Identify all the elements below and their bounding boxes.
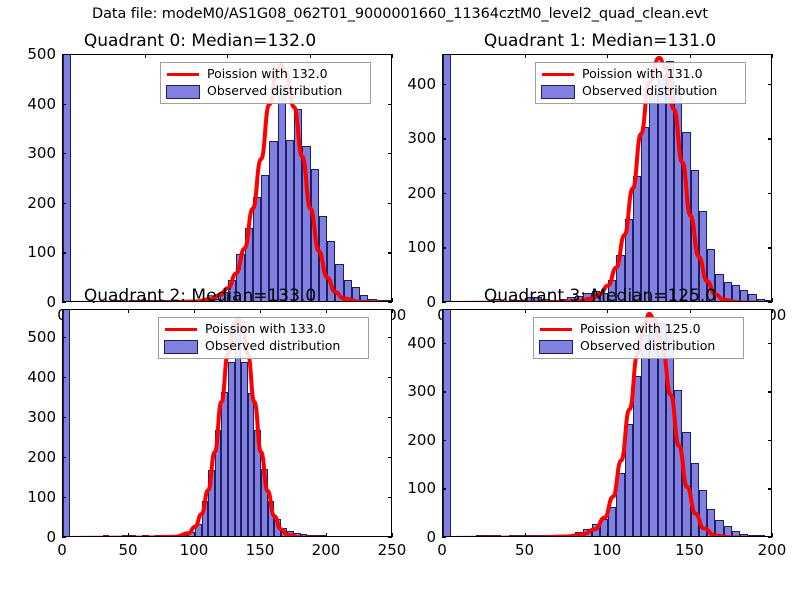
y-axis-tick bbox=[62, 457, 66, 458]
subplot-title-quadrant-2: Quadrant 2: Median=133.0 bbox=[0, 286, 400, 306]
legend-quadrant-1: Poission with 131.0 Observed distributio… bbox=[535, 62, 746, 104]
legend-quadrant-3: Poission with 125.0 Observed distributio… bbox=[533, 317, 744, 359]
y-axis-tick bbox=[442, 343, 446, 344]
y-axis-tick-label: 0 bbox=[10, 528, 56, 546]
y-axis-tick-label: 200 bbox=[390, 431, 436, 449]
legend-entry-observed: Observed distribution bbox=[539, 338, 738, 355]
y-axis-tick-label: 400 bbox=[10, 95, 56, 113]
legend-line-swatch-icon bbox=[166, 68, 200, 81]
x-axis-tick-label: 200 bbox=[312, 541, 341, 559]
y-axis-tick bbox=[62, 337, 66, 338]
y-axis-tick bbox=[768, 84, 772, 85]
y-axis-tick bbox=[768, 488, 772, 489]
y-axis-tick bbox=[388, 203, 392, 204]
y-axis-tick bbox=[62, 252, 66, 253]
y-axis-tick bbox=[388, 457, 392, 458]
legend-patch-swatch-icon bbox=[541, 85, 575, 99]
subplot-quadrant-2: Quadrant 2: Median=133.0 050100150200250… bbox=[0, 285, 400, 565]
y-axis-tick bbox=[442, 84, 446, 85]
x-axis-tick bbox=[194, 533, 195, 537]
x-axis-tick bbox=[194, 309, 195, 313]
x-axis-tick-label: 50 bbox=[118, 541, 137, 559]
y-axis-tick bbox=[62, 537, 66, 538]
x-axis-tick bbox=[690, 533, 691, 537]
y-axis-tick-label: 200 bbox=[10, 194, 56, 212]
y-axis-tick-label: 300 bbox=[10, 144, 56, 162]
legend-entry-observed: Observed distribution bbox=[164, 338, 363, 355]
legend-entry-observed: Observed distribution bbox=[541, 83, 740, 100]
legend-line-swatch-icon bbox=[539, 323, 573, 336]
y-axis-tick bbox=[768, 343, 772, 344]
y-axis-tick-label: 500 bbox=[10, 45, 56, 63]
x-axis-tick bbox=[260, 533, 261, 537]
legend-label-observed: Observed distribution bbox=[205, 340, 340, 353]
x-axis-tick bbox=[128, 309, 129, 313]
legend-label-observed: Observed distribution bbox=[207, 85, 342, 98]
x-axis-tick bbox=[607, 533, 608, 537]
subplot-quadrant-0: Quadrant 0: Median=132.0 050100150200010… bbox=[0, 30, 400, 310]
y-axis-tick bbox=[62, 203, 66, 204]
x-axis-tick-label: 150 bbox=[246, 541, 275, 559]
subplot-quadrant-1: Quadrant 1: Median=131.0 050100150200010… bbox=[400, 30, 800, 310]
y-axis-tick-label: 0 bbox=[390, 528, 436, 546]
y-axis-tick bbox=[768, 391, 772, 392]
legend-label-poisson: Poission with 132.0 bbox=[207, 68, 328, 81]
legend-label-poisson: Poission with 125.0 bbox=[580, 323, 701, 336]
legend-patch-swatch-icon bbox=[166, 85, 200, 99]
y-axis-tick bbox=[62, 497, 66, 498]
legend-entry-poisson: Poission with 125.0 bbox=[539, 321, 738, 338]
x-axis-tick-label: 0 bbox=[437, 541, 447, 559]
x-axis-tick bbox=[690, 309, 691, 313]
y-axis-tick-label: 200 bbox=[390, 184, 436, 202]
y-axis-tick bbox=[62, 54, 66, 55]
x-axis-tick bbox=[525, 309, 526, 313]
x-axis-tick bbox=[145, 54, 146, 58]
y-axis-tick-label: 500 bbox=[10, 328, 56, 346]
legend-entry-poisson: Poission with 132.0 bbox=[166, 66, 365, 83]
y-axis-tick-label: 100 bbox=[390, 238, 436, 256]
y-axis-tick bbox=[442, 193, 446, 194]
y-axis-tick bbox=[62, 377, 66, 378]
x-axis-tick bbox=[326, 533, 327, 537]
y-axis-tick-label: 100 bbox=[10, 243, 56, 261]
subplot-title-quadrant-0: Quadrant 0: Median=132.0 bbox=[0, 31, 400, 51]
x-axis-tick-label: 50 bbox=[515, 541, 534, 559]
x-axis-tick bbox=[525, 54, 526, 58]
legend-entry-poisson: Poission with 131.0 bbox=[541, 66, 740, 83]
x-axis-tick bbox=[607, 309, 608, 313]
legend-quadrant-0: Poission with 132.0 Observed distributio… bbox=[160, 62, 371, 104]
y-axis-tick bbox=[62, 417, 66, 418]
y-axis-tick-label: 400 bbox=[10, 368, 56, 386]
y-axis-tick bbox=[388, 377, 392, 378]
x-axis-tick bbox=[442, 309, 443, 313]
y-axis-tick bbox=[768, 138, 772, 139]
y-axis-tick bbox=[768, 440, 772, 441]
x-axis-tick bbox=[772, 533, 773, 537]
legend-label-observed: Observed distribution bbox=[580, 340, 715, 353]
x-axis-tick bbox=[392, 309, 393, 313]
y-axis-tick bbox=[442, 488, 446, 489]
legend-quadrant-2: Poission with 133.0 Observed distributio… bbox=[158, 317, 369, 359]
subplot-title-quadrant-3: Quadrant 3: Median=125.0 bbox=[400, 286, 800, 306]
x-axis-tick bbox=[260, 309, 261, 313]
x-axis-tick bbox=[525, 533, 526, 537]
legend-line-swatch-icon bbox=[164, 323, 198, 336]
x-axis-tick bbox=[607, 54, 608, 58]
legend-entry-observed: Observed distribution bbox=[166, 83, 365, 100]
legend-line-swatch-icon bbox=[541, 68, 575, 81]
y-axis-tick bbox=[442, 391, 446, 392]
y-axis-tick-label: 400 bbox=[390, 75, 436, 93]
x-axis-tick bbox=[326, 309, 327, 313]
y-axis-tick bbox=[442, 247, 446, 248]
x-axis-tick bbox=[62, 309, 63, 313]
y-axis-tick-label: 300 bbox=[390, 382, 436, 400]
x-axis-tick bbox=[310, 54, 311, 58]
y-axis-tick bbox=[768, 247, 772, 248]
x-axis-tick-label: 150 bbox=[675, 541, 704, 559]
subplot-quadrant-3: Quadrant 3: Median=125.0 050100150200010… bbox=[400, 285, 800, 565]
y-axis-tick bbox=[442, 440, 446, 441]
x-axis-tick-label: 100 bbox=[593, 541, 622, 559]
legend-patch-swatch-icon bbox=[164, 340, 198, 354]
y-axis-tick-label: 300 bbox=[390, 129, 436, 147]
y-axis-tick bbox=[388, 104, 392, 105]
x-axis-tick bbox=[690, 54, 691, 58]
x-axis-tick-label: 0 bbox=[57, 541, 67, 559]
x-axis-tick-label: 200 bbox=[758, 541, 787, 559]
y-axis-tick bbox=[768, 537, 772, 538]
x-axis-tick bbox=[772, 54, 773, 58]
y-axis-tick bbox=[768, 193, 772, 194]
figure-suptitle: Data file: modeM0/AS1G08_062T01_90000016… bbox=[0, 6, 800, 22]
y-axis-tick bbox=[388, 417, 392, 418]
legend-patch-swatch-icon bbox=[539, 340, 573, 354]
y-axis-tick-label: 400 bbox=[390, 334, 436, 352]
y-axis-tick bbox=[442, 138, 446, 139]
y-axis-tick-label: 300 bbox=[10, 408, 56, 426]
legend-label-poisson: Poission with 131.0 bbox=[582, 68, 703, 81]
x-axis-tick bbox=[227, 54, 228, 58]
y-axis-tick bbox=[442, 537, 446, 538]
y-axis-tick bbox=[62, 104, 66, 105]
x-axis-tick-label: 100 bbox=[180, 541, 209, 559]
x-axis-tick bbox=[772, 309, 773, 313]
y-axis-tick bbox=[388, 153, 392, 154]
x-axis-tick bbox=[128, 533, 129, 537]
x-axis-tick bbox=[442, 54, 443, 58]
y-axis-tick bbox=[62, 153, 66, 154]
figure-canvas: Data file: modeM0/AS1G08_062T01_90000016… bbox=[0, 0, 800, 600]
x-axis-tick bbox=[392, 54, 393, 58]
legend-label-poisson: Poission with 133.0 bbox=[205, 323, 326, 336]
legend-entry-poisson: Poission with 133.0 bbox=[164, 321, 363, 338]
y-axis-tick-label: 100 bbox=[10, 488, 56, 506]
y-axis-tick bbox=[388, 54, 392, 55]
y-axis-tick-label: 200 bbox=[10, 448, 56, 466]
y-axis-tick-label: 100 bbox=[390, 479, 436, 497]
subplot-title-quadrant-1: Quadrant 1: Median=131.0 bbox=[400, 31, 800, 51]
legend-label-observed: Observed distribution bbox=[582, 85, 717, 98]
